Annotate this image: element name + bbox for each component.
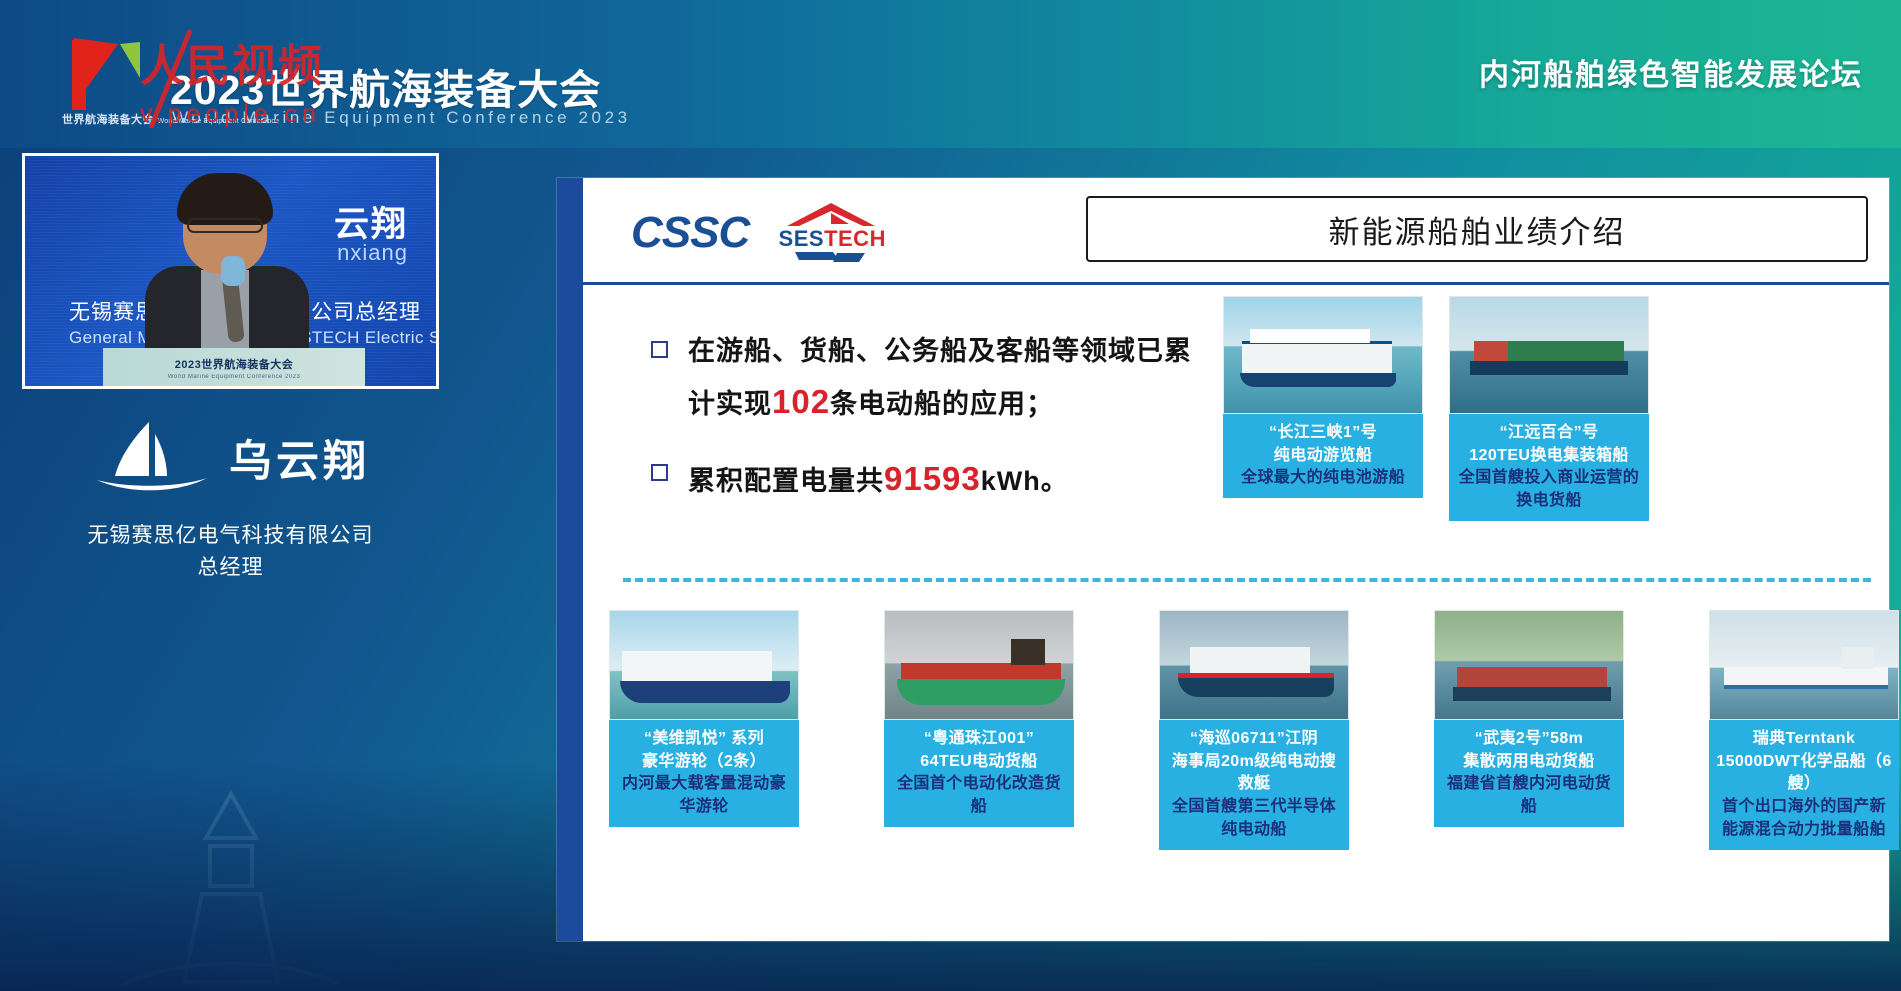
glasses-icon [187,218,263,233]
bullet-1-line1: 在游船、货船、公务船及客船等领域已累 [688,336,1192,366]
speaker-org: 无锡赛思亿电气科技有限公司 总经理 [22,520,439,583]
maritime-patrol-boat-photo [1159,610,1349,720]
conference-logo-mark-icon [58,38,154,112]
bullet-item-2-text: 累积配置电量共91593kWh。 [688,451,1069,508]
bullet-list: 在游船、货船、公务船及客船等领域已累 计实现102条电动船的应用； 累积配置电量… [651,328,1241,528]
podium-label-en: World Marine Equipment Conference 2023 [103,374,365,380]
caption-line2: 豪华游轮（2条） [642,753,766,770]
chemical-tanker-photo [1709,610,1899,720]
broadcast-header: 世界航海装备大会 World Marine Equipment Conferen… [0,0,1901,148]
caption-highlight: 全国首艘投入商业运营的换电货船 [1455,467,1643,512]
cssc-sestech-logo: CSSC SESTECH [631,202,901,264]
ship-card[interactable]: “江远百合”号 120TEU换电集装箱船 全国首艘投入商业运营的换电货船 [1449,296,1649,521]
ship-card-caption: 瑞典Terntank 15000DWT化学品船（6艘） 首个出口海外的国产新能源… [1709,720,1899,850]
bullet-2-number: 91593 [884,460,981,497]
caption-line2: 集散两用电动货船 [1463,753,1594,770]
podium-label: 2023世界航海装备大会 World Marine Equipment Conf… [103,356,365,380]
caption-line1: “武夷2号”58m [1475,730,1584,747]
forum-title: 内河船舶绿色智能发展论坛 [1479,50,1863,94]
slide-title: 新能源船舶业绩介绍 [1329,207,1626,252]
caption-line2: 64TEU电动货船 [920,753,1037,770]
caption-line2: 海事局20m级纯电动搜救艇 [1172,753,1336,793]
speaker-name: 乌云翔 [229,427,370,489]
caption-highlight: 全国首艘第三代半导体纯电动船 [1165,796,1343,841]
caption-line1: “长江三峡1”号 [1269,424,1377,441]
lower-third-name-en: nxiang [337,240,408,266]
caption-highlight: 首个出口海外的国产新能源混合动力批量船舶 [1715,796,1893,841]
bullet-1-line2-a: 计实现 [688,389,772,419]
speaker-identity-block: 乌云翔 无锡赛思亿电气科技有限公司 总经理 [22,420,439,583]
sestech-ship-icon [793,250,871,266]
ship-card-caption: “美维凯悦” 系列 豪华游轮（2条） 内河最大载客量混动豪华游轮 [609,720,799,827]
caption-line2: 120TEU换电集装箱船 [1469,447,1629,464]
podium-label-cn: 2023世界航海装备大会 [175,359,293,371]
ship-card[interactable]: “美维凯悦” 系列 豪华游轮（2条） 内河最大载客量混动豪华游轮 [609,610,799,850]
bullet-item-1: 在游船、货船、公务船及客船等领域已累 计实现102条电动船的应用； [651,328,1241,431]
ship-card-caption: “江远百合”号 120TEU换电集装箱船 全国首艘投入商业运营的换电货船 [1449,414,1649,521]
slide-divider [583,282,1889,285]
speaker-video-panel[interactable]: 云翔 nxiang 无锡赛思亿电气科技有限公司总经理 General Manag… [22,153,439,389]
green-cargo-barge-photo [884,610,1074,720]
ship-card-caption: “长江三峡1”号 纯电动游览船 全球最大的纯电池游船 [1223,414,1423,498]
caption-highlight: 全国首个电动化改造货船 [890,773,1068,818]
bullet-item-1-text: 在游船、货船、公务船及客船等领域已累 计实现102条电动船的应用； [688,328,1192,431]
caption-highlight: 福建省首艘内河电动货船 [1440,773,1618,818]
luxury-cruise-ship-photo [609,610,799,720]
conference-logo-title: 2023世界航海装备大会 [170,56,601,116]
bullet-2-line1-a: 累积配置电量共 [688,466,884,496]
conference-logo: 世界航海装备大会 World Marine Equipment Conferen… [58,34,578,139]
broadcast-stage: 世界航海装备大会 World Marine Equipment Conferen… [0,0,1901,991]
sestech-roof-icon [785,202,877,228]
river-cruise-ship-photo [1223,296,1423,414]
podium: 2023世界航海装备大会 World Marine Equipment Conf… [103,348,365,386]
caption-line1: “粤通珠江001” [924,730,1034,747]
lighthouse-watermark-icon [106,786,356,991]
ship-card-caption: “武夷2号”58m 集散两用电动货船 福建省首艘内河电动货船 [1434,720,1624,827]
bullet-2-line1-b: kWh。 [981,466,1069,496]
dashed-separator [623,578,1871,582]
caption-line2: 纯电动游览船 [1274,447,1372,464]
bullet-1-number: 102 [772,383,830,420]
ship-card[interactable]: “武夷2号”58m 集散两用电动货船 福建省首艘内河电动货船 [1434,610,1624,850]
ship-card[interactable]: “长江三峡1”号 纯电动游览船 全球最大的纯电池游船 [1223,296,1423,498]
speaker-org-line2: 总经理 [22,552,439,584]
sestech-wordmark: SESTECH [763,226,901,252]
speaker-org-line1: 无锡赛思亿电气科技有限公司 [22,520,439,552]
slide-title-box: 新能源船舶业绩介绍 [1086,196,1868,262]
top-card-group: “长江三峡1”号 纯电动游览船 全球最大的纯电池游船 “江远百合”号 120TE… [1203,296,1863,656]
conference-logo-title-en: World Marine Equipment Conference 2023 [172,108,631,128]
sestech-word-b: TECH [824,226,886,251]
caption-line1: “美维凯悦” 系列 [644,730,764,747]
bottom-card-group: “美维凯悦” 系列 豪华游轮（2条） 内河最大载客量混动豪华游轮 “粤通珠江00… [609,610,1899,850]
conference-logo-badge-cn: 世界航海装备大会 [62,114,154,126]
square-bullet-icon [651,464,668,481]
caption-line1: “江远百合”号 [1500,424,1599,441]
square-bullet-icon [651,341,668,358]
sailboat-icon [91,420,211,496]
ship-card-caption: “粤通珠江001” 64TEU电动货船 全国首个电动化改造货船 [884,720,1074,827]
ship-card[interactable]: 瑞典Terntank 15000DWT化学品船（6艘） 首个出口海外的国产新能源… [1709,610,1899,850]
caption-line2: 15000DWT化学品船（6艘） [1716,753,1891,793]
ship-card[interactable]: “海巡06711”江阴 海事局20m级纯电动搜救艇 全国首艘第三代半导体纯电动船 [1159,610,1349,850]
ship-card[interactable]: “粤通珠江001” 64TEU电动货船 全国首个电动化改造货船 [884,610,1074,850]
bullet-1-line2-b: 条电动船的应用； [830,389,1054,419]
cssc-wordmark: CSSC [631,208,749,258]
caption-line1: 瑞典Terntank [1753,730,1855,747]
container-vessel-photo [1449,296,1649,414]
presentation-slide[interactable]: CSSC SESTECH 新能源船舶业绩介绍 [557,178,1889,941]
caption-highlight: 全球最大的纯电池游船 [1229,467,1417,490]
ship-card-caption: “海巡06711”江阴 海事局20m级纯电动搜救艇 全国首艘第三代半导体纯电动船 [1159,720,1349,850]
sestech-word-a: SES [779,226,825,251]
sestech-logo: SESTECH [763,202,901,264]
bulk-carrier-photo [1434,610,1624,720]
bullet-item-2: 累积配置电量共91593kWh。 [651,451,1241,508]
caption-line1: “海巡06711”江阴 [1190,730,1318,747]
caption-highlight: 内河最大载客量混动豪华游轮 [615,773,793,818]
